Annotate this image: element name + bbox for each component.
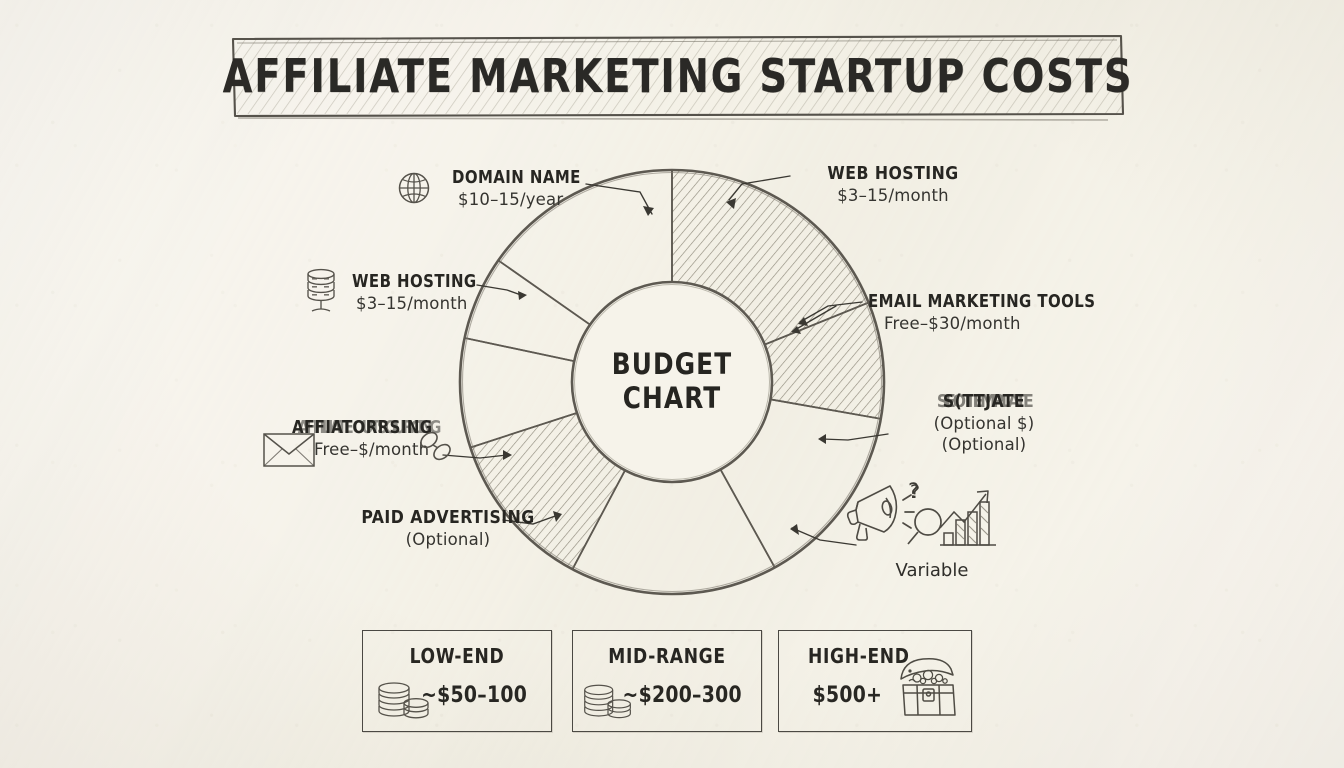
server-stack-icon	[300, 266, 342, 316]
callout-domain-name: DOMAIN NAME $10–15/year	[452, 168, 588, 209]
callout-web-hosting-left-title: WEB HOSTING	[352, 272, 477, 292]
tier-low-end-label: LOW-END	[368, 644, 547, 668]
callout-web-hosting-top-title: WEB HOSTING	[798, 164, 988, 184]
coin-stack-icon	[581, 681, 635, 723]
donut-center-line2: CHART	[566, 382, 779, 416]
callout-email-marketing-value: Free–$30/month	[868, 314, 1107, 333]
callout-paid-advertising: PAID ADVERTISING (Optional)	[336, 508, 560, 549]
callout-paid-advertising-value: (Optional)	[336, 530, 560, 549]
tier-mid-range-label: MID-RANGE	[578, 644, 757, 668]
envelope-icon	[262, 430, 318, 470]
callout-seo-template-title-ghost: SEO TEMPLATE	[937, 392, 1031, 412]
callout-web-hosting-left-value: $3–15/month	[352, 294, 483, 313]
tier-card-mid-range: MID-RANGE ~$200–300	[572, 630, 762, 732]
callout-seo-template-value: (Optional $)	[872, 414, 1096, 433]
callout-web-hosting-left: WEB HOSTING $3–15/month	[352, 272, 483, 313]
analytics-search-icon: ?	[906, 478, 1014, 560]
tier-card-low-end: LOW-END ~$50–100	[362, 630, 552, 732]
treasure-chest-icon	[887, 645, 969, 721]
tier-card-high-end: HIGH-END $500+	[778, 630, 972, 732]
leader-domain-name	[586, 184, 652, 214]
callout-seo-template-value2: (Optional)	[872, 435, 1096, 454]
callout-seo-template: S(TTJATE SEO TEMPLATE (Optional $) (Opti…	[872, 392, 1096, 454]
callout-email-marketing-title: EMAIL MARKETING TOOLS	[868, 292, 1095, 312]
variable-caption: Variable	[862, 560, 1002, 581]
callout-domain-name-value: $10–15/year	[452, 190, 588, 209]
callout-domain-name-title: DOMAIN NAME	[452, 168, 581, 188]
callout-paid-advertising-title: PAID ADVERTISING	[336, 508, 560, 528]
question-mark-2: ?	[908, 479, 919, 503]
callout-seo-template-title-overlap: S(TTJATE SEO TEMPLATE	[943, 392, 1025, 412]
callout-email-marketing: EMAIL MARKETING TOOLS Free–$30/month	[868, 292, 1107, 333]
donut-center-line1: BUDGET	[566, 348, 779, 382]
globe-icon	[396, 170, 432, 206]
callout-web-hosting-top: WEB HOSTING $3–15/month	[798, 164, 988, 205]
coin-stack-icon	[375, 679, 433, 723]
callout-web-hosting-top-value: $3–15/month	[798, 186, 988, 205]
chain-link-icon	[412, 422, 460, 470]
infographic-canvas: AFFILIATE MARKETING STARTUP COSTS	[0, 0, 1344, 768]
callout-seo-template-title: S(TTJATE SEO TEMPLATE	[872, 392, 1096, 412]
donut-center-label: BUDGET CHART	[566, 348, 779, 415]
